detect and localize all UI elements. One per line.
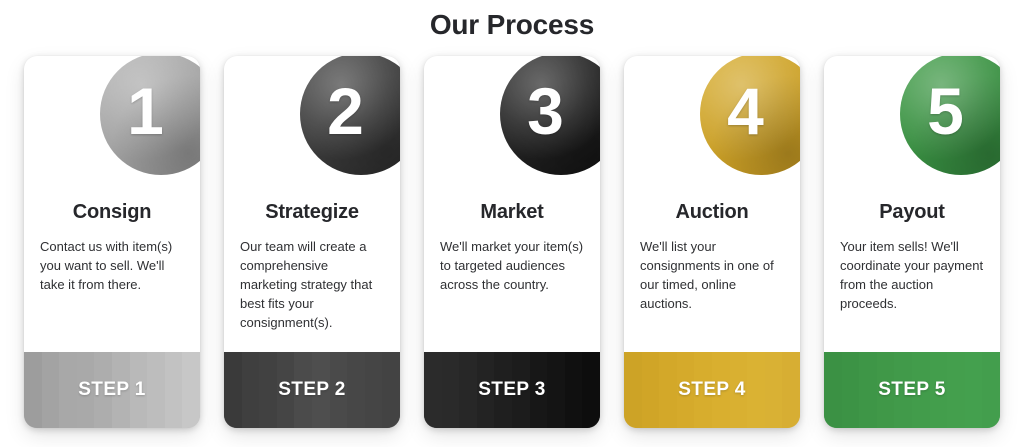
card-body: PayoutYour item sells! We'll coordinate …	[824, 56, 1000, 352]
card-title: Payout	[840, 199, 984, 225]
footer-band	[365, 352, 383, 428]
footer-band	[842, 352, 860, 428]
footer-band	[382, 352, 400, 428]
step-footer-label: STEP 2	[278, 379, 346, 401]
footer-band	[747, 352, 765, 428]
card-title: Auction	[640, 199, 784, 225]
footer-band	[824, 352, 842, 428]
card-title: Strategize	[240, 199, 384, 225]
process-card[interactable]: 4AuctionWe'll list your consignments in …	[624, 56, 800, 428]
footer-band	[165, 352, 183, 428]
footer-band	[442, 352, 460, 428]
process-cards-row: 1ConsignContact us with item(s) you want…	[24, 56, 1000, 428]
card-body: AuctionWe'll list your consignments in o…	[624, 56, 800, 352]
step-footer-bar[interactable]: STEP 2	[224, 352, 400, 428]
footer-band	[947, 352, 965, 428]
footer-band	[659, 352, 677, 428]
step-footer-bar[interactable]: STEP 5	[824, 352, 1000, 428]
footer-band	[259, 352, 277, 428]
card-description: We'll list your consignments in one of o…	[640, 237, 784, 313]
step-footer-label: STEP 1	[78, 379, 146, 401]
card-body: MarketWe'll market your item(s) to targe…	[424, 56, 600, 352]
process-card[interactable]: 5PayoutYour item sells! We'll coordinate…	[824, 56, 1000, 428]
process-card[interactable]: 1ConsignContact us with item(s) you want…	[24, 56, 200, 428]
card-body: ConsignContact us with item(s) you want …	[24, 56, 200, 352]
footer-band	[859, 352, 877, 428]
footer-band	[182, 352, 200, 428]
page-title: Our Process	[0, 7, 1024, 43]
step-footer-label: STEP 5	[878, 379, 946, 401]
card-body: StrategizeOur team will create a compreh…	[224, 56, 400, 352]
step-footer-bar[interactable]: STEP 1	[24, 352, 200, 428]
footer-band	[965, 352, 983, 428]
card-description: Your item sells! We'll coordinate your p…	[840, 237, 984, 313]
process-card[interactable]: 3MarketWe'll market your item(s) to targ…	[424, 56, 600, 428]
footer-band	[642, 352, 660, 428]
card-description: We'll market your item(s) to targeted au…	[440, 237, 584, 294]
step-footer-label: STEP 3	[478, 379, 546, 401]
footer-band	[582, 352, 600, 428]
card-title: Consign	[40, 199, 184, 225]
card-title: Market	[440, 199, 584, 225]
footer-band	[765, 352, 783, 428]
process-card[interactable]: 2StrategizeOur team will create a compre…	[224, 56, 400, 428]
footer-band	[224, 352, 242, 428]
footer-band	[624, 352, 642, 428]
footer-band	[547, 352, 565, 428]
footer-band	[242, 352, 260, 428]
footer-band	[565, 352, 583, 428]
footer-band	[24, 352, 42, 428]
step-footer-bar[interactable]: STEP 3	[424, 352, 600, 428]
footer-band	[147, 352, 165, 428]
footer-band	[782, 352, 800, 428]
footer-band	[59, 352, 77, 428]
footer-band	[424, 352, 442, 428]
footer-band	[42, 352, 60, 428]
footer-band	[347, 352, 365, 428]
card-description: Contact us with item(s) you want to sell…	[40, 237, 184, 294]
step-footer-label: STEP 4	[678, 379, 746, 401]
footer-band	[982, 352, 1000, 428]
footer-band	[459, 352, 477, 428]
step-footer-bar[interactable]: STEP 4	[624, 352, 800, 428]
our-process-section: Our Process 1ConsignContact us with item…	[0, 0, 1024, 447]
card-description: Our team will create a comprehensive mar…	[240, 237, 384, 332]
